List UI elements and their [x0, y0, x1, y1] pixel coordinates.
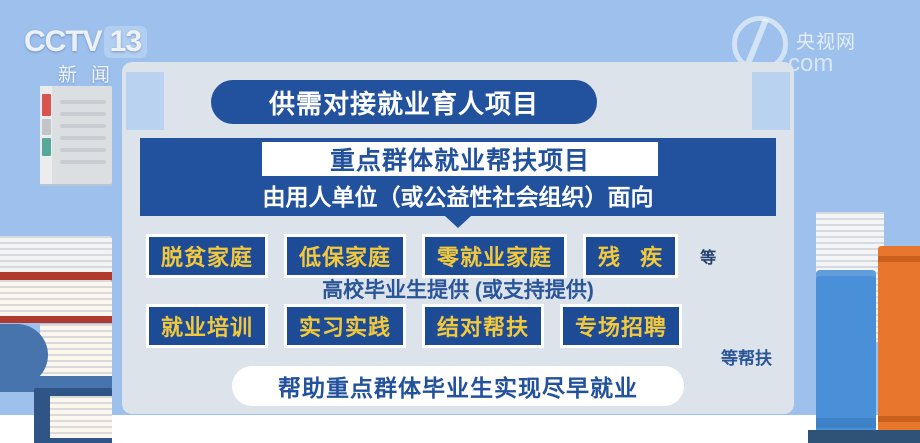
footer-text: 帮助重点群体毕业生实现尽早就业 [278, 369, 638, 403]
book-stack-upper-edge [0, 272, 112, 280]
orange-book-top-stripe [878, 256, 920, 262]
cctv-wordmark: CCTV13 [24, 26, 160, 58]
left-arrow-backdrop [126, 72, 164, 130]
panel-notch-icon [445, 216, 471, 228]
panel-subheading: 由用人单位（或公益性社会组织）面向 [263, 178, 654, 212]
support-tag-suffix: 等帮扶 [721, 344, 772, 369]
channel-number: 13 [104, 26, 147, 58]
footer-pill: 帮助重点群体毕业生实现尽早就业 [232, 366, 684, 406]
book-stack-mid [0, 280, 112, 318]
group-tag: 脱贫家庭 [146, 234, 268, 278]
orange-upright-book-icon [878, 246, 920, 430]
middle-description-text: 高校毕业生提供 (或支持提供) [322, 279, 594, 302]
book-stack-upper [0, 236, 112, 276]
arrow-right-icon [154, 162, 171, 188]
book-stack-lower [40, 324, 112, 376]
infographic-card: 供需对接就业育人项目 重点群体就业帮扶项目 由用人单位（或公益性社会组织）面向 … [122, 62, 794, 414]
group-tag-suffix: 等 [700, 244, 716, 268]
arrow-left-icon [745, 162, 762, 188]
background-bottom-strip [0, 415, 920, 443]
highlight-panel: 重点群体就业帮扶项目 由用人单位（或公益性社会组织）面向 [140, 138, 776, 216]
group-tag-row: 脱贫家庭 低保家庭 零就业家庭 残 疾 等 [146, 234, 770, 278]
panel-heading: 重点群体就业帮扶项目 [330, 141, 590, 177]
support-tag: 专场招聘 [560, 304, 682, 348]
navy-book-icon [34, 388, 112, 443]
group-tag: 残 疾 [583, 234, 678, 278]
support-tag-row: 就业培训 实习实践 结对帮扶 专场招聘 [146, 304, 770, 348]
group-tag: 零就业家庭 [422, 234, 567, 278]
blue-book-base [816, 418, 876, 428]
program-title-pill: 供需对接就业育人项目 [211, 80, 597, 124]
program-title: 供需对接就业育人项目 [269, 84, 539, 121]
orange-book-bottom-stripe [878, 416, 920, 422]
book-stack-mid-edge [0, 316, 112, 323]
panel-heading-box: 重点群体就业帮扶项目 [262, 142, 658, 176]
left-books-illustration [0, 60, 112, 443]
bookmark-green-icon [42, 138, 51, 156]
open-book-icon [40, 86, 112, 184]
support-tag: 结对帮扶 [422, 304, 544, 348]
cctv-text: CCTV [24, 25, 102, 58]
broadcast-screenshot: CCTV13 新闻 央视网 com 供需对接就业育人项目 重点群体就业帮扶项目 [0, 0, 920, 443]
bookmark-red-icon [42, 94, 51, 116]
panel-subheading-box: 由用人单位（或公益性社会组织）面向 [184, 178, 732, 212]
right-arrow-backdrop [752, 72, 790, 130]
book-shelf [808, 430, 920, 443]
watermark-com-label: com [788, 50, 833, 78]
support-tag: 实习实践 [284, 304, 406, 348]
support-tag: 就业培训 [146, 304, 268, 348]
bookmark-gray-icon [42, 119, 51, 135]
blue-upright-book-icon [816, 270, 876, 430]
middle-description: 高校毕业生提供 (或支持提供) [122, 274, 794, 304]
right-books-illustration [808, 60, 920, 443]
group-tag: 低保家庭 [284, 234, 406, 278]
